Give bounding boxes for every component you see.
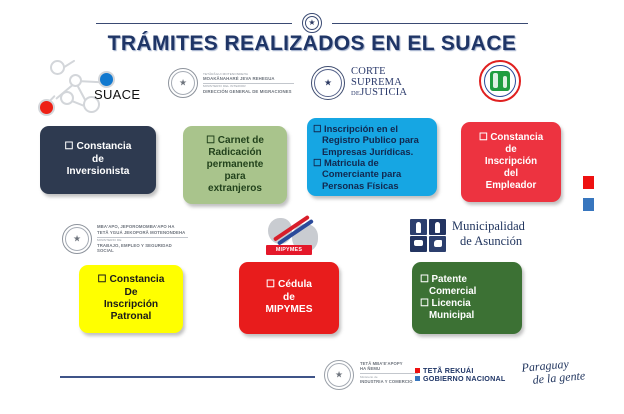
card-line: extranjeros: [188, 183, 282, 195]
card-line: ☐ Matricula de: [313, 157, 431, 168]
card-line: para: [188, 171, 282, 183]
card-line: Patronal: [84, 311, 178, 323]
ministry-es-name: INDUSTRIA Y COMERCIO: [360, 379, 418, 384]
national-seal-icon: ★: [168, 68, 198, 98]
corte-line-3-small: DE: [351, 90, 360, 97]
card-line: ☐ Inscripción en el: [313, 123, 431, 134]
slogan-line-2: de la gente: [532, 369, 586, 386]
trabajo-logo: ★ MBA'APO, JEPOROMOMBA'APO HA TETÃ YGUÁ …: [62, 220, 188, 258]
card-line: MIPYMES: [244, 304, 334, 316]
national-seal-icon: ★: [324, 360, 354, 390]
card-carnet-radicacion[interactable]: ☐ Carnet de Radicación permanente para e…: [183, 126, 287, 204]
card-line: ☐ Constancia: [466, 132, 556, 144]
slide-canvas: ★ TRÁMITES REALIZADOS EN EL SUACE SUACE …: [0, 0, 624, 414]
national-seal-icon: ★: [62, 224, 92, 254]
migraciones-logo: ★ TETÃRÃGUI MOTENONDEHA MOAKÃNAHARÉ JEVA…: [168, 64, 294, 102]
migraciones-gn-name: MOAKÃNAHARÉ JEVA REHEGUA: [203, 76, 294, 82]
card-line: de: [466, 144, 556, 156]
card-line: Inscripción: [84, 299, 178, 311]
municipalidad-label: Municipalidad de Asunción: [452, 219, 525, 250]
card-line: Radicación: [188, 147, 282, 159]
card-line: De: [84, 287, 178, 299]
card-patente-licencia[interactable]: ☐ Patente Comercial ☐ Licencia Municipal: [412, 262, 522, 334]
card-line: Personas Físicas: [313, 180, 431, 191]
mipymes-logo-icon: MIPYMES: [258, 216, 336, 260]
municipalidad-line-2: de Asunción: [452, 234, 525, 249]
corte-line-3: JUSTICIA: [360, 87, 407, 98]
card-inscripcion-registro-publico[interactable]: ☐ Inscripción en el Registro Publico par…: [307, 118, 437, 196]
network-nodes-icon: SUACE: [36, 58, 148, 120]
card-line: ☐ Constancia: [46, 141, 150, 153]
card-line: permanente: [188, 159, 282, 171]
paraguay-de-la-gente-slogan: Paraguay de la gente: [521, 356, 586, 387]
card-constancia-inversionista[interactable]: ☐ Constancia de Inversionista: [40, 126, 156, 194]
card-line: Municipal: [420, 310, 514, 322]
card-line: ☐ Patente: [420, 274, 514, 286]
card-line: Comerciante para: [313, 168, 431, 179]
card-constancia-inscripcion-patronal[interactable]: ☐ Constancia De Inscripción Patronal: [79, 265, 183, 333]
trabajo-gn-label: MBA'APO, JEPOROMOMBA'APO HA: [97, 224, 188, 230]
suace-logo-label: SUACE: [94, 87, 140, 102]
card-line: ☐ Constancia: [84, 274, 178, 286]
ministry-industria-comercio-logo: TETÃ MBA'E'APOPY HA ÑEMU Ministerio de I…: [360, 361, 418, 384]
card-line: Registro Publico para: [313, 134, 431, 145]
card-line: ☐ Carnet de: [188, 135, 282, 147]
card-line: de: [46, 154, 150, 166]
footer-rule: [60, 376, 315, 378]
card-constancia-inscripcion-empleador[interactable]: ☐ Constancia de Inscripción del Empleado…: [461, 122, 561, 202]
card-line: ☐ Licencia: [420, 298, 514, 310]
gobierno-nacional-logo: TETÃ REKUÁI GOBIERNO NACIONAL: [415, 366, 505, 382]
corte-suprema-logo: ★ CORTE SUPREMA DEJUSTICIA: [311, 62, 451, 104]
card-line: de: [244, 292, 334, 304]
card-line: Comercial: [420, 286, 514, 298]
card-line: Inversionista: [46, 166, 150, 178]
national-seal-icon: ★: [311, 66, 345, 100]
card-line: Empresas Jurídicas.: [313, 146, 431, 157]
card-line: ☐ Cédula: [244, 279, 334, 291]
card-cedula-mipymes[interactable]: ☐ Cédula de MIPYMES: [239, 262, 339, 334]
accent-square-blue: [583, 198, 594, 211]
bullet-red-icon: [415, 368, 420, 373]
trabajo-gn-name: TETÃ YGUÁ JEKOPORÃ MOTENONDEHA: [97, 230, 188, 236]
star-seal-icon: ★: [302, 13, 322, 33]
header-rule-left: [96, 23, 292, 24]
ministry-gn-name: HA ÑEMU: [360, 366, 418, 371]
trabajo-es-name: TRABAJO, EMPLEO Y SEGURIDAD SOCIAL: [97, 243, 188, 255]
header-rule-right: [332, 23, 528, 24]
migraciones-es-name: DIRECCIÓN GENERAL DE MIGRACIONES: [203, 89, 294, 95]
municipalidad-line-1: Municipalidad: [452, 219, 525, 234]
card-line: del: [466, 168, 556, 180]
card-line: Empleador: [466, 180, 556, 192]
bullet-blue-icon: [415, 376, 420, 381]
gov-line-2: GOBIERNO NACIONAL: [423, 374, 505, 383]
ips-circular-logo-icon: [479, 60, 521, 102]
coat-of-arms-shield-icon: [410, 219, 448, 255]
page-title: TRÁMITES REALIZADOS EN EL SUACE: [0, 32, 624, 56]
card-line: Inscripción: [466, 156, 556, 168]
accent-square-red: [583, 176, 594, 189]
mipymes-label: MIPYMES: [266, 245, 312, 255]
